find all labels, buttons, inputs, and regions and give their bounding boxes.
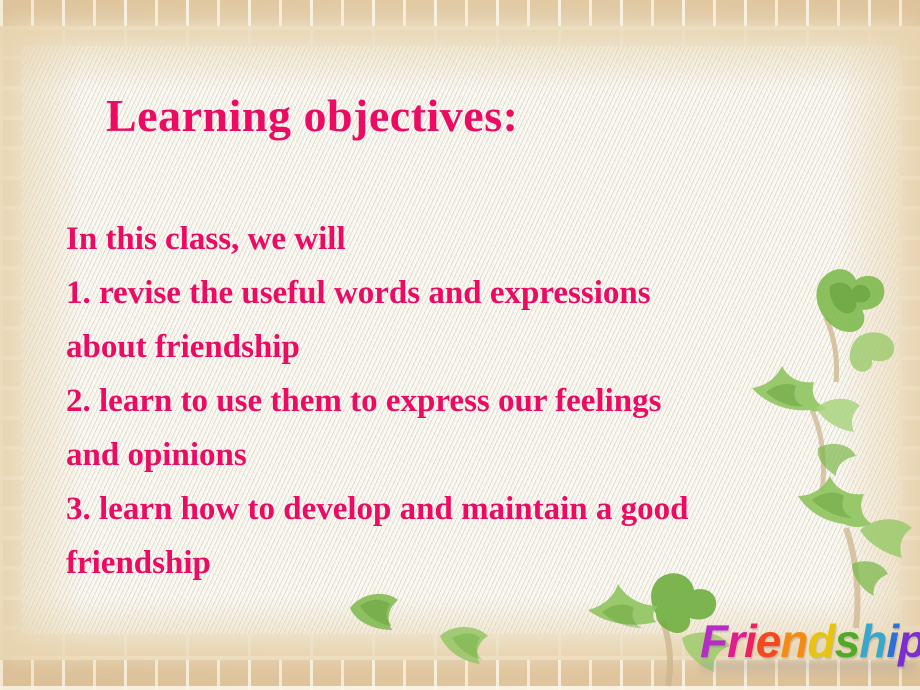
friendship-letter-1: r	[727, 618, 744, 664]
objectives-line: friendship	[66, 536, 908, 590]
objectives-list: In this class, we will 1. revise the use…	[66, 212, 908, 590]
objectives-line: 2. learn to use them to express our feel…	[66, 374, 908, 428]
friendship-letter-7: h	[859, 618, 886, 664]
objectives-line: about friendship	[66, 320, 908, 374]
friendship-letter-6: s	[835, 618, 860, 664]
friendship-letter-8: i	[886, 618, 898, 664]
objectives-line: and opinions	[66, 428, 908, 482]
friendship-letter-2: i	[744, 618, 756, 664]
objectives-line: In this class, we will	[66, 212, 908, 266]
page-title: Learning objectives:	[106, 92, 518, 140]
friendship-letter-5: d	[808, 618, 835, 664]
friendship-wordmark: Friendship	[700, 618, 920, 664]
friendship-letter-3: e	[756, 618, 781, 664]
objectives-line: 3. learn how to develop and maintain a g…	[66, 482, 908, 536]
slide: Learning objectives: In this class, we w…	[0, 0, 920, 690]
friendship-letter-9: p	[898, 618, 920, 664]
friendship-letter-0: F	[700, 618, 727, 664]
friendship-letter-4: n	[780, 618, 807, 664]
objectives-line: 1. revise the useful words and expressio…	[66, 266, 908, 320]
